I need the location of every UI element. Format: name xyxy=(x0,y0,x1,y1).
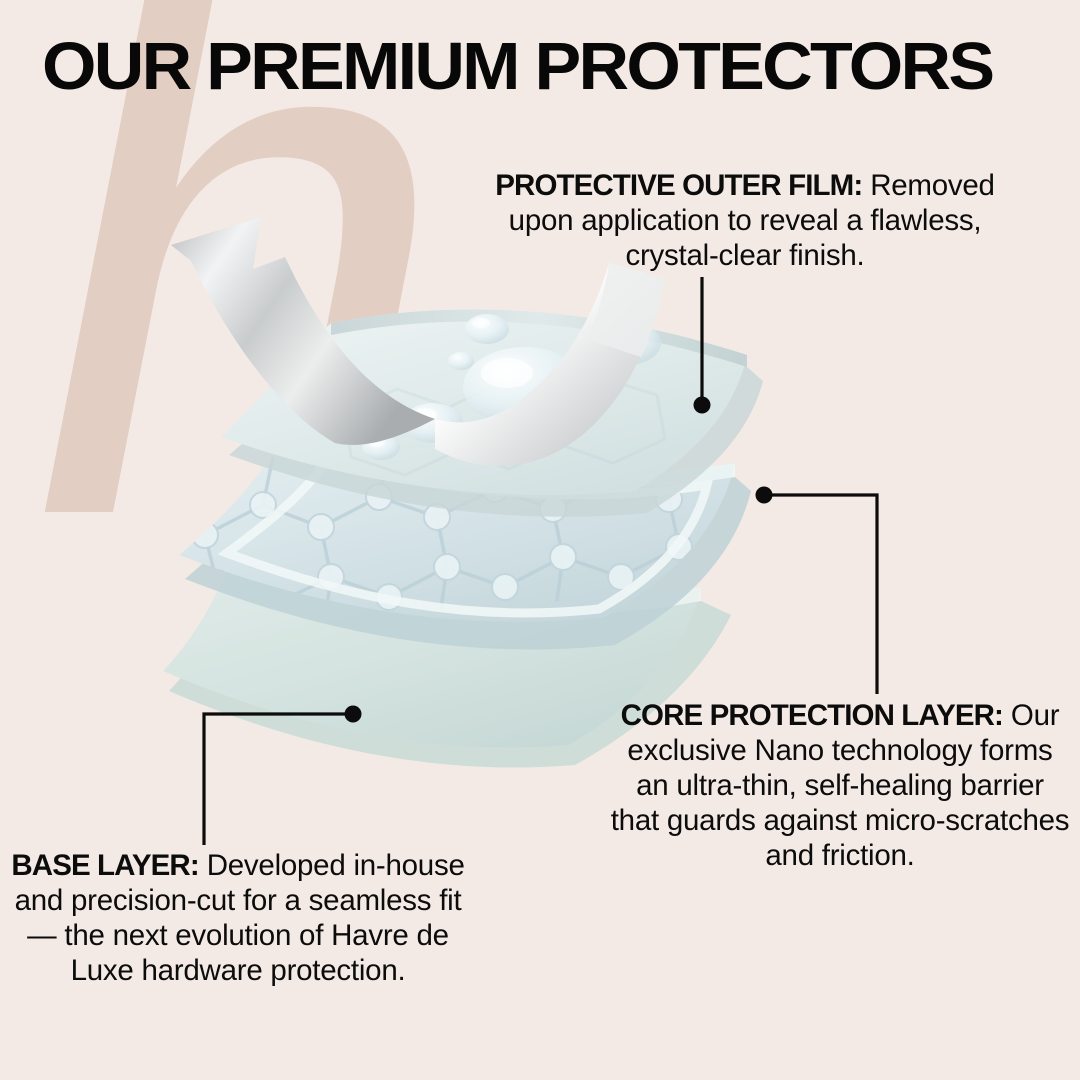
infographic-poster: h OUR PREMIUM PROTECTORS xyxy=(0,0,1080,1080)
callout-core-protection-layer: CORE PROTECTION LAYER: Our exclusive Nan… xyxy=(610,698,1070,873)
callout-protective-outer-film: PROTECTIVE OUTER FILM: Removed upon appl… xyxy=(460,168,1030,273)
callout-lead-base-layer: BASE LAYER: xyxy=(11,849,198,882)
page-title: OUR PREMIUM PROTECTORS xyxy=(42,33,1080,100)
callout-lead-outer-film: PROTECTIVE OUTER FILM: xyxy=(495,169,862,202)
callout-lead-core-layer: CORE PROTECTION LAYER: xyxy=(621,699,1003,732)
callout-base-layer: BASE LAYER: Developed in-house and preci… xyxy=(8,848,468,988)
